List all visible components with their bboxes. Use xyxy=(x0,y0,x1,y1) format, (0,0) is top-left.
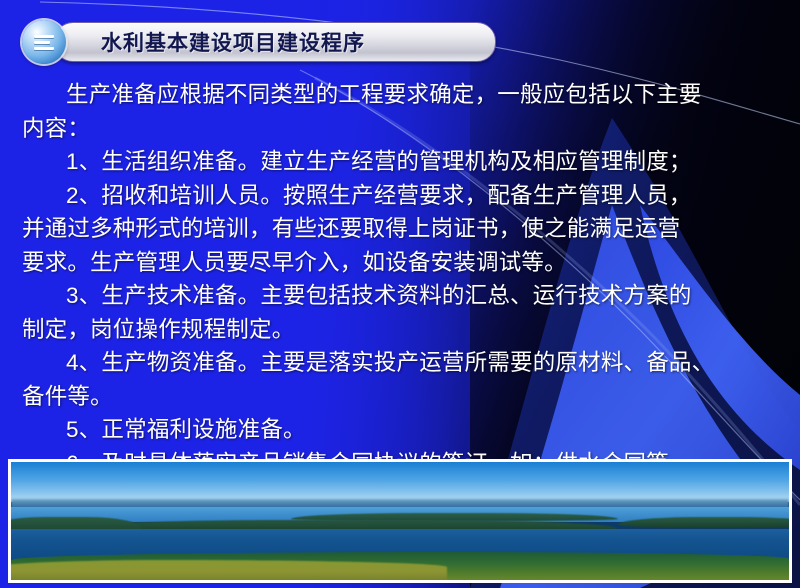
body-line: 生产准备应根据不同类型的工程要求确定，一般应包括以下主要 xyxy=(22,78,778,112)
slide-body-text: 生产准备应根据不同类型的工程要求确定，一般应包括以下主要 内容： 1、生活组织准… xyxy=(22,78,778,480)
slide-title-bar: 水利基本建设项目建设程序 xyxy=(22,20,496,64)
body-line: 4、生产物资准备。主要是落实投产运营所需要的原材料、备品、 xyxy=(22,346,778,380)
presentation-slide: 水利基本建设项目建设程序 生产准备应根据不同类型的工程要求确定，一般应包括以下主… xyxy=(0,0,800,588)
body-line: 要求。生产管理人员要尽早介入，如设备安装调试等。 xyxy=(22,246,778,280)
photo-sky xyxy=(11,462,789,502)
page-title: 水利基本建设项目建设程序 xyxy=(101,27,365,57)
photo-canvas xyxy=(11,462,789,580)
body-line: 2、招收和培训人员。按照生产经营要求，配备生产管理人员， xyxy=(22,179,778,213)
photo-right-island xyxy=(618,517,789,528)
list-menu-icon xyxy=(22,20,66,64)
body-line: 备件等。 xyxy=(22,380,778,414)
body-line: 3、生产技术准备。主要包括技术资料的汇总、运行技术方案的 xyxy=(22,279,778,313)
body-line: 内容： xyxy=(22,112,778,146)
title-pill: 水利基本建设项目建设程序 xyxy=(54,22,496,62)
body-line: 1、生活组织准备。建立生产经营的管理机构及相应管理制度； xyxy=(22,145,778,179)
lake-panorama-photo xyxy=(8,459,792,583)
photo-foreground-vegetation xyxy=(11,560,447,580)
body-line: 制定，岗位操作规程制定。 xyxy=(22,313,778,347)
menu-bars xyxy=(34,35,54,50)
body-line: 并通过多种形式的培训，有些还要取得上岗证书，使之能满足运营 xyxy=(22,212,778,246)
body-line: 5、正常福利设施准备。 xyxy=(22,413,778,447)
